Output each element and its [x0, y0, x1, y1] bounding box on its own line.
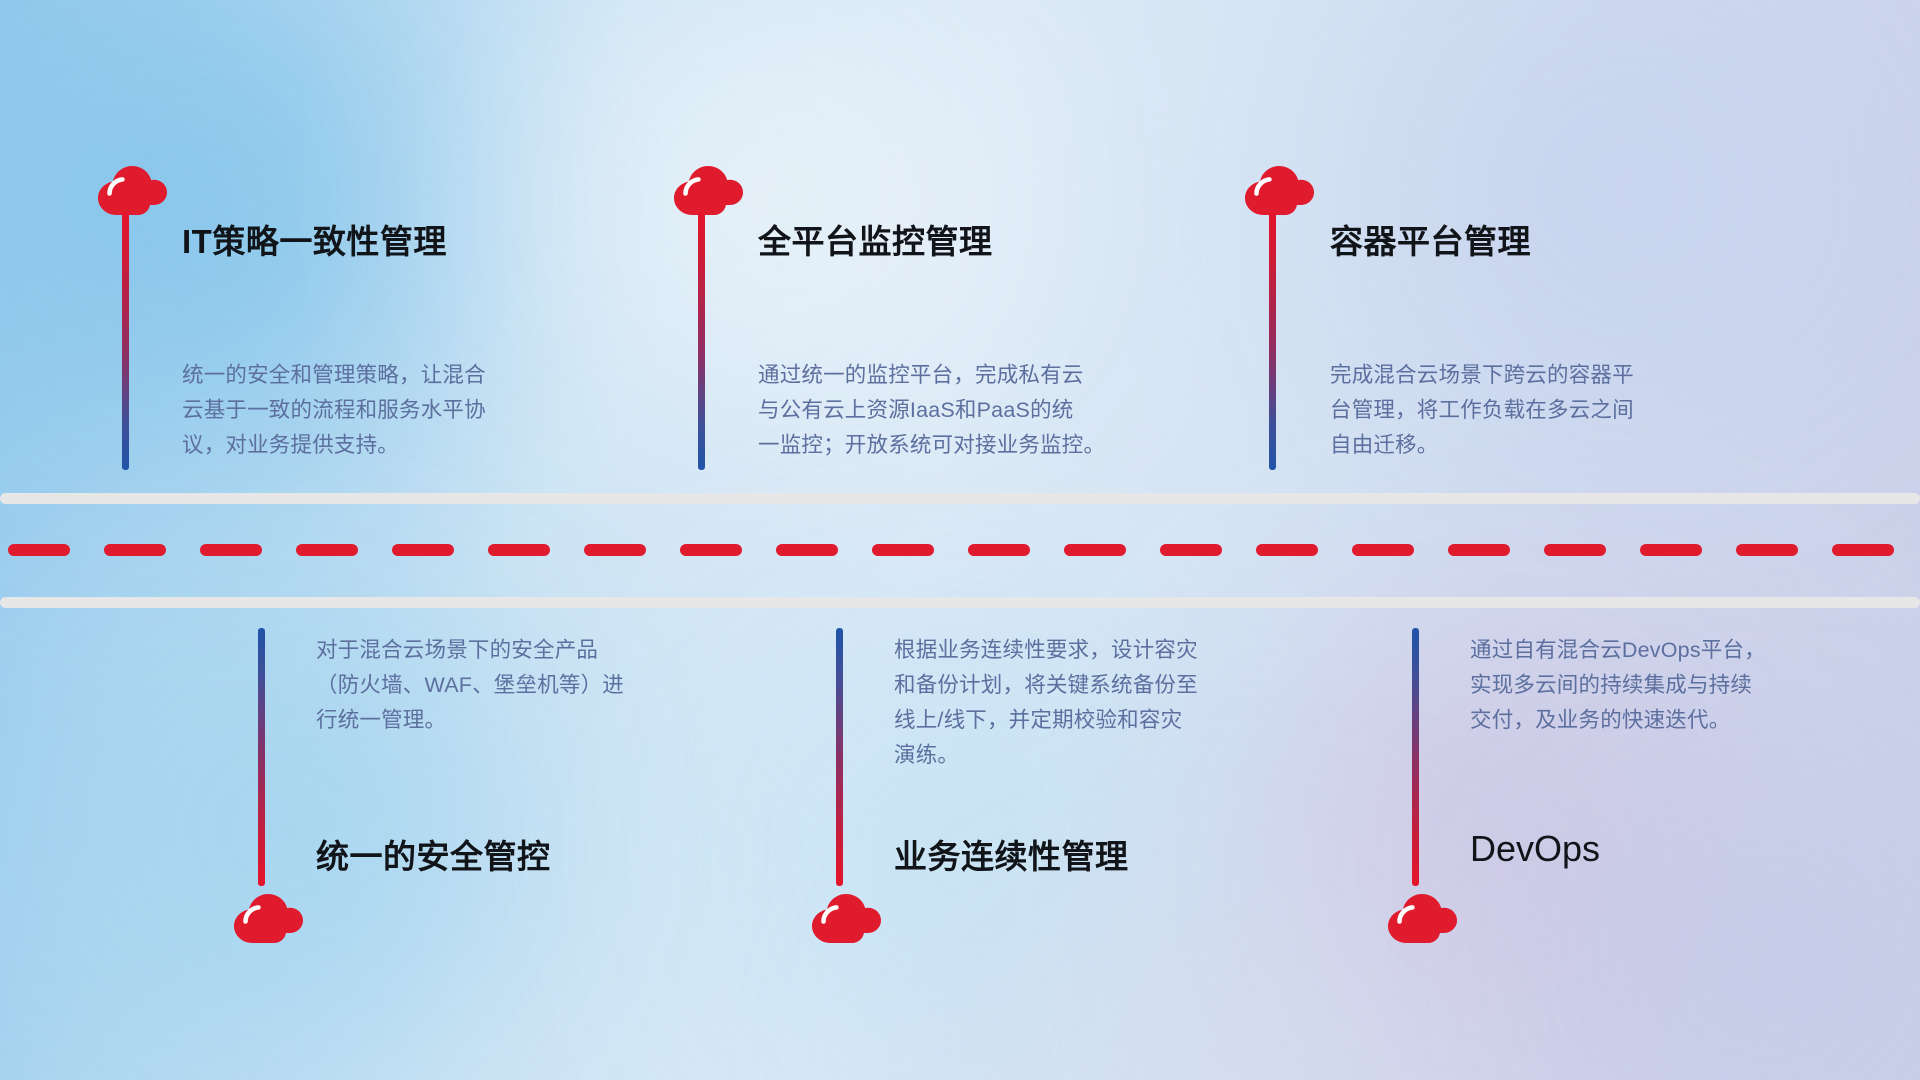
divider-dash [584, 544, 646, 556]
divider-dash [1832, 544, 1894, 556]
column-description: 根据业务连续性要求，设计容灾 和备份计划，将关键系统备份至 线上/线下，并定期校… [894, 633, 1324, 773]
column-title: 统一的安全管控 [316, 830, 551, 878]
divider-dash [1736, 544, 1798, 556]
divider-dash [8, 544, 70, 556]
column-description: 统一的安全和管理策略，让混合 云基于一致的流程和服务水平协 议，对业务提供支持。 [182, 358, 612, 463]
divider-dash [1352, 544, 1414, 556]
column-description: 通过统一的监控平台，完成私有云 与公有云上资源IaaS和PaaS的统 一监控；开… [758, 358, 1218, 463]
divider-dash [1160, 544, 1222, 556]
divider-dash [296, 544, 358, 556]
cloud-icon [672, 160, 744, 218]
divider-dash [1640, 544, 1702, 556]
column-description: 通过自有混合云DevOps平台， 实现多云间的持续集成与持续 交付，及业务的快速… [1470, 633, 1900, 738]
column-description: 对于混合云场景下的安全产品 （防火墙、WAF、堡垒机等）进 行统一管理。 [316, 633, 746, 738]
connector-line [1269, 212, 1276, 470]
connector-line [258, 628, 265, 886]
divider-dash [104, 544, 166, 556]
divider-dash [872, 544, 934, 556]
cloud-icon [96, 160, 168, 218]
divider-dash [1064, 544, 1126, 556]
column-title: 容器平台管理 [1330, 215, 1531, 263]
column-title: 全平台监控管理 [758, 215, 993, 263]
cloud-icon [232, 888, 304, 946]
divider-rail-top [0, 493, 1920, 504]
divider-rail-bottom [0, 597, 1920, 608]
divider-dash [776, 544, 838, 556]
divider-dash [488, 544, 550, 556]
connector-line [1412, 628, 1419, 886]
column-title: IT策略一致性管理 [182, 215, 447, 263]
column-title: 业务连续性管理 [894, 830, 1129, 878]
column-title: DevOps [1470, 828, 1600, 870]
divider-dash [392, 544, 454, 556]
cloud-icon [1386, 888, 1458, 946]
connector-line [698, 212, 705, 470]
connector-line [122, 212, 129, 470]
infographic-stage: IT策略一致性管理 统一的安全和管理策略，让混合 云基于一致的流程和服务水平协 … [0, 0, 1920, 1080]
divider-dash [1448, 544, 1510, 556]
divider-dash [968, 544, 1030, 556]
divider-dash [1544, 544, 1606, 556]
divider-dash [1256, 544, 1318, 556]
divider-dash [200, 544, 262, 556]
connector-line [836, 628, 843, 886]
column-description: 完成混合云场景下跨云的容器平 台管理，将工作负载在多云之间 自由迁移。 [1330, 358, 1780, 463]
divider-dash [680, 544, 742, 556]
cloud-icon [1243, 160, 1315, 218]
divider-dashed-line [0, 544, 1920, 556]
cloud-icon [810, 888, 882, 946]
